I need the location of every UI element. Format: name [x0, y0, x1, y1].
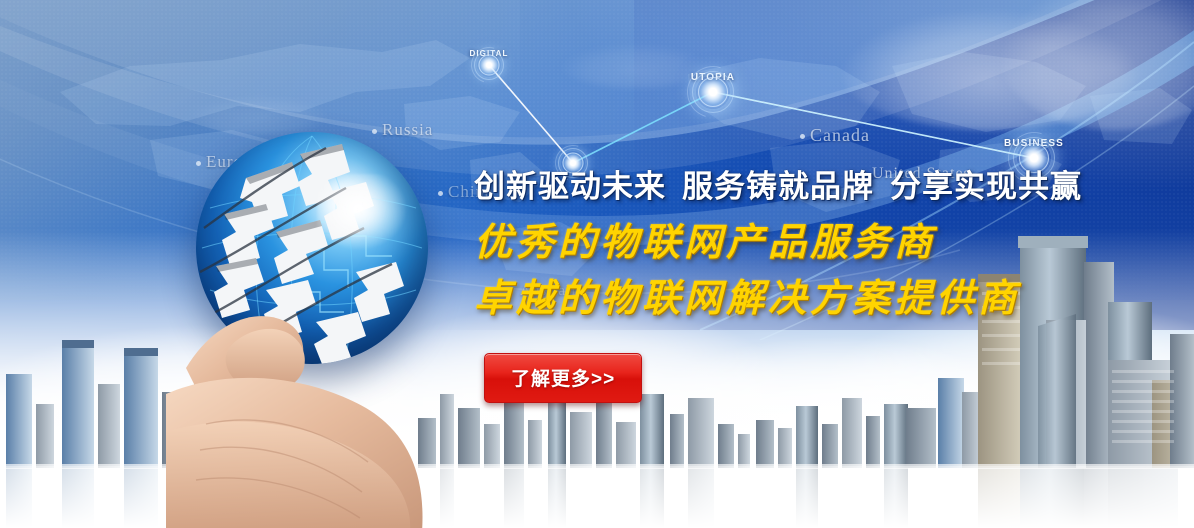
banner-headline: 创新驱动未来服务铸就品牌分享实现共赢 [474, 168, 1094, 207]
hand-holding-globe [196, 132, 442, 382]
banner-copy: 创新驱动未来服务铸就品牌分享实现共赢 优秀的物联网产品服务商 卓越的物联网解决方… [474, 168, 1094, 325]
globe-in-hand [196, 132, 442, 382]
network-node-digital[interactable]: DIGITAL [477, 53, 501, 77]
banner-subline-2: 卓越的物联网解决方案提供商 [474, 271, 1094, 325]
hero-banner: Russia Europe China Canada United States… [0, 0, 1194, 528]
headline-part-3: 分享实现共赢 [890, 169, 1082, 204]
network-node-utopia[interactable]: UTOPIA [696, 75, 730, 109]
headline-part-2: 服务铸就品牌 [682, 169, 874, 204]
learn-more-button[interactable]: 了解更多>> [484, 353, 642, 403]
headline-part-1: 创新驱动未来 [474, 169, 666, 204]
banner-subline-1: 优秀的物联网产品服务商 [474, 215, 1094, 269]
